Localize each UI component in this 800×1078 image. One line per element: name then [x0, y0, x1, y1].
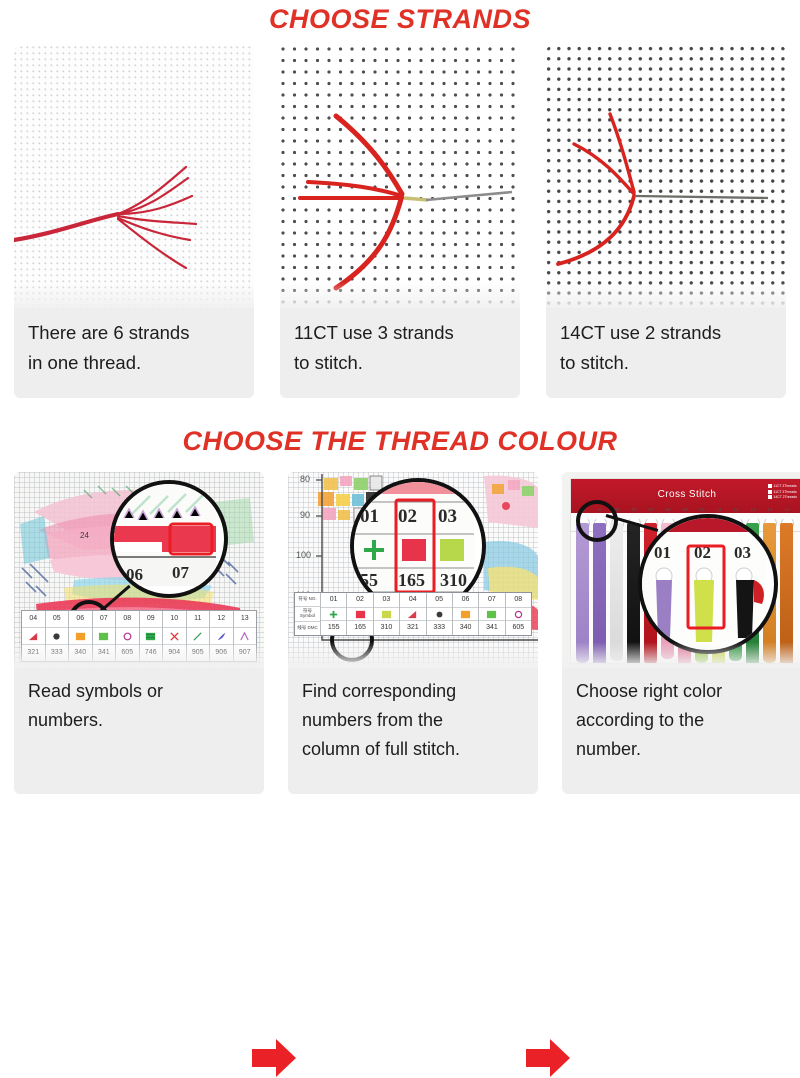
column-number: 01	[321, 593, 346, 608]
row-label-symbol: 符号 Symbol	[295, 607, 320, 621]
arrow-right-icon-2	[526, 1038, 570, 1078]
column-number: 07	[479, 593, 504, 608]
magnified-pattern: 06 07	[114, 484, 216, 586]
needle-shape	[404, 192, 512, 200]
table-column: 01 155	[321, 593, 347, 635]
column-number: 06	[453, 593, 478, 608]
legend-item: 11CT 3Threads	[768, 484, 798, 488]
photo-bottom-fade	[14, 282, 254, 308]
column-symbol	[479, 608, 504, 621]
column-number: 02	[347, 593, 372, 608]
caption-line: Choose right color	[576, 677, 798, 706]
magnifier-circle: 06 07	[110, 480, 228, 598]
caption-line: Find corresponding	[302, 677, 524, 706]
column-symbol	[321, 608, 346, 621]
peg-number: 14	[764, 507, 776, 512]
floss-skein	[610, 523, 623, 661]
arrow-right-icon-1	[252, 1038, 296, 1078]
column-number: 08	[506, 593, 531, 608]
needle-and-three-strands-illustration	[280, 46, 520, 308]
svg-text:01: 01	[654, 543, 671, 562]
svg-text:310: 310	[440, 570, 467, 590]
caption-line: to stitch.	[560, 348, 772, 378]
caption-line: There are 6 strands	[28, 318, 240, 348]
table-row-labels: 符号 NO. 符号 Symbol 线号 DMC	[295, 593, 321, 635]
column-symbol	[506, 608, 531, 621]
card-find-numbers: 80 90 100 110 01 02 03	[288, 472, 538, 794]
caption-line: Read symbols or	[28, 677, 250, 706]
caption-read-symbols: Read symbols or numbers.	[14, 668, 264, 735]
section-title-choose-strands: CHOOSE STRANDS	[0, 2, 800, 36]
row-label-dmc: 线号 DMC	[295, 622, 320, 635]
table-column: 07 341	[479, 593, 505, 635]
section-title-choose-thread-colour: CHOOSE THE THREAD COLOUR	[0, 424, 800, 458]
column-symbol	[427, 608, 452, 621]
table-column: 08 605	[506, 593, 531, 635]
column-number: 03	[374, 593, 399, 608]
magnifier-target-circle	[576, 500, 618, 542]
magnified-number-grid: 01 02 03 55 165 310	[354, 482, 474, 602]
column-code: 310	[374, 621, 399, 635]
photo-number-chart: 80 90 100 110 01 02 03	[288, 472, 538, 668]
axis-tick-label: 90	[300, 510, 310, 520]
caption-14ct: 14CT use 2 strands to stitch.	[546, 308, 786, 378]
table-column: 04 321	[400, 593, 426, 635]
magnified-code-1: 06	[126, 565, 143, 584]
magnifier-circle: 01 02 03	[638, 514, 778, 654]
photo-floss-card: Cross Stitch 11CT 3Threads 11CT 3Threads	[562, 472, 800, 668]
floss-header-legend: 11CT 3Threads 11CT 3Threads 14CT 2Thread…	[768, 484, 798, 501]
peg-number: 13	[747, 507, 759, 512]
photo-bottom-fade	[14, 642, 264, 668]
caption-line: 11CT use 3 strands	[294, 318, 506, 348]
needle-shape	[636, 196, 768, 198]
card-read-symbols: 24	[14, 472, 264, 794]
row-label-no: 符号 NO.	[295, 593, 320, 607]
column-code: 340	[453, 621, 478, 635]
photo-six-strands	[14, 46, 254, 308]
colour-card-row: 24	[0, 472, 800, 800]
svg-text:165: 165	[398, 570, 425, 590]
magnified-code-2: 07	[172, 563, 190, 582]
card-11ct: 11CT use 3 strands to stitch.	[280, 46, 520, 398]
caption-line: 14CT use 2 strands	[560, 318, 772, 348]
strands-card-row: There are 6 strands in one thread.	[0, 46, 800, 406]
column-code: 165	[347, 621, 372, 635]
caption-line: to stitch.	[294, 348, 506, 378]
column-symbol	[400, 608, 425, 621]
legend-number: 07	[93, 611, 116, 628]
peg-number: 07	[645, 507, 657, 512]
legend-number: 05	[46, 611, 69, 628]
svg-text:01: 01	[360, 506, 379, 527]
photo-pattern-chart: 24	[14, 472, 264, 668]
column-number: 04	[400, 593, 425, 608]
legend-number: 06	[69, 611, 92, 628]
legend-swatch-icon	[768, 490, 772, 494]
photo-bottom-fade	[562, 642, 800, 668]
photo-bottom-fade	[280, 282, 520, 308]
column-code: 321	[400, 621, 425, 635]
legend-item: 14CT 2Threads	[768, 495, 798, 499]
axis-tick-label: 100	[296, 550, 311, 560]
legend-number: 12	[210, 611, 233, 628]
legend-text: 11CT 3Threads	[774, 490, 797, 494]
column-number: 05	[427, 593, 452, 608]
card-choose-color: Cross Stitch 11CT 3Threads 11CT 3Threads	[562, 472, 800, 794]
legend-swatch-icon	[768, 495, 772, 499]
card-14ct: 14CT use 2 strands to stitch.	[546, 46, 786, 398]
floss-card-title: Cross Stitch	[571, 489, 800, 500]
column-code: 341	[479, 621, 504, 635]
caption-choose-color: Choose right color according to the numb…	[562, 668, 800, 764]
column-code: 155	[321, 621, 346, 635]
caption-six-strands: There are 6 strands in one thread.	[14, 308, 254, 378]
legend-item: 11CT 3Threads	[768, 490, 798, 494]
legend-number: 11	[187, 611, 210, 628]
full-stitch-column-table: 符号 NO. 符号 Symbol 线号 DMC 01 155 02	[294, 592, 532, 636]
column-symbol	[453, 608, 478, 621]
peg-number: 15	[781, 507, 793, 512]
axis-tick-label: 80	[300, 474, 310, 484]
photo-bottom-fade	[288, 642, 538, 668]
red-thread-six-strands-illustration	[14, 46, 254, 308]
legend-number: 09	[140, 611, 163, 628]
legend-text: 11CT 3Threads	[774, 484, 797, 488]
legend-number: 10	[163, 611, 186, 628]
column-code: 605	[506, 621, 531, 635]
column-code: 333	[427, 621, 452, 635]
peg-number: 08	[662, 507, 674, 512]
svg-text:03: 03	[734, 543, 751, 562]
instruction-page: CHOOSE STRANDS	[0, 0, 800, 800]
peg-number: 06	[628, 507, 640, 512]
table-column: 06 340	[453, 593, 479, 635]
legend-text: 14CT 2Threads	[774, 495, 798, 499]
photo-11ct	[280, 46, 520, 308]
caption-line: numbers from the	[302, 706, 524, 735]
caption-find-numbers: Find corresponding numbers from the colu…	[288, 668, 538, 764]
photo-14ct	[546, 46, 786, 308]
caption-11ct: 11CT use 3 strands to stitch.	[280, 308, 520, 378]
column-symbol	[347, 608, 372, 621]
column-symbol	[374, 608, 399, 621]
table-column: 03 310	[374, 593, 400, 635]
caption-line: in one thread.	[28, 348, 240, 378]
table-column: 05 333	[427, 593, 453, 635]
legend-number: 04	[22, 611, 45, 628]
caption-line: numbers.	[28, 706, 250, 735]
caption-line: column of full stitch.	[302, 735, 524, 764]
svg-text:02: 02	[398, 506, 417, 527]
needle-and-two-strands-illustration	[546, 46, 786, 308]
svg-text:03: 03	[438, 506, 457, 527]
caption-line: number.	[576, 735, 798, 764]
photo-bottom-fade	[546, 282, 786, 308]
caption-line: according to the	[576, 706, 798, 735]
magnified-floss-columns: 01 02 03	[642, 518, 766, 642]
peg-number: 10	[696, 507, 708, 512]
peg-number: 09	[679, 507, 691, 512]
legend-number: 08	[116, 611, 139, 628]
peg-number: 12	[730, 507, 742, 512]
legend-number: 13	[234, 611, 257, 628]
card-six-strands: There are 6 strands in one thread.	[14, 46, 254, 398]
table-column: 02 165	[347, 593, 373, 635]
chart-cell-number: 24	[80, 531, 89, 540]
legend-swatch-icon	[768, 484, 772, 488]
peg-number: 11	[713, 507, 725, 512]
